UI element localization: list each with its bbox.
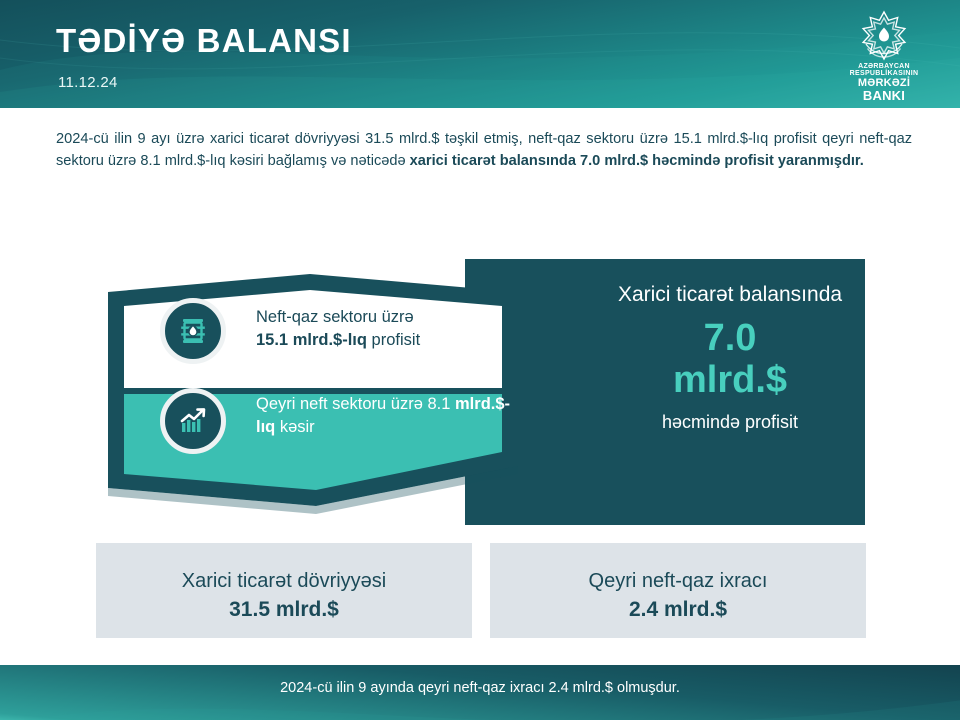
stat-box-non-oil-export: Qeyri neft-qaz ixracı 2.4 mlrd.$ xyxy=(490,543,866,638)
intro-text-bold: xarici ticarət balansında 7.0 mlrd.$ həc… xyxy=(410,153,864,169)
balance-panel-value: 7.0 mlrd.$ xyxy=(605,317,855,402)
balance-panel-heading: Xarici ticarət balansında xyxy=(605,281,855,309)
stat-value-non-oil-export: 2.4 mlrd.$ xyxy=(490,598,866,622)
bank-logo: AZƏRBAYCAN RESPUBLİKASININ MƏRKƏZİ BANKI xyxy=(832,8,936,104)
bar-chart-trend-icon-badge xyxy=(160,388,226,454)
page-header: TƏDİYƏ BALANSI 11.12.24 AZƏRBAYCAN RESPU… xyxy=(0,0,960,108)
stat-value-trade-turnover: 31.5 mlrd.$ xyxy=(96,598,472,622)
page-title: TƏDİYƏ BALANSI xyxy=(56,22,352,60)
oil-barrel-icon-badge xyxy=(160,298,226,364)
main-diagram: Xarici ticarət balansında 7.0 mlrd.$ həc… xyxy=(0,248,960,538)
footer-text: 2024-cü ilin 9 ayında qeyri neft-qaz ixr… xyxy=(0,680,960,696)
bar-chart-trend-icon xyxy=(177,405,209,437)
balance-value-unit: mlrd.$ xyxy=(605,359,855,402)
oil-barrel-icon xyxy=(177,315,209,347)
stat-box-trade-turnover: Xarici ticarət dövriyyəsi 31.5 mlrd.$ xyxy=(96,543,472,638)
balance-panel-subtitle: həcmində profisit xyxy=(605,412,855,433)
page-date: 11.12.24 xyxy=(58,74,118,91)
hexagon-breakdown: Neft-qaz sektoru üzrə 15.1 mlrd.$-lıq pr… xyxy=(88,248,538,538)
balance-value-number: 7.0 xyxy=(605,317,855,360)
stat-label-non-oil-export: Qeyri neft-qaz ixracı xyxy=(490,568,866,594)
page-footer: 2024-cü ilin 9 ayında qeyri neft-qaz ixr… xyxy=(0,665,960,720)
logo-line-4: BANKI xyxy=(832,89,936,102)
hexagon-shape xyxy=(88,248,538,538)
stat-label-trade-turnover: Xarici ticarət dövriyyəsi xyxy=(96,568,472,594)
intro-paragraph: 2024-cü ilin 9 ayı üzrə xarici ticarət d… xyxy=(56,128,912,172)
azerbaijan-central-bank-star-flame-icon xyxy=(855,8,913,62)
